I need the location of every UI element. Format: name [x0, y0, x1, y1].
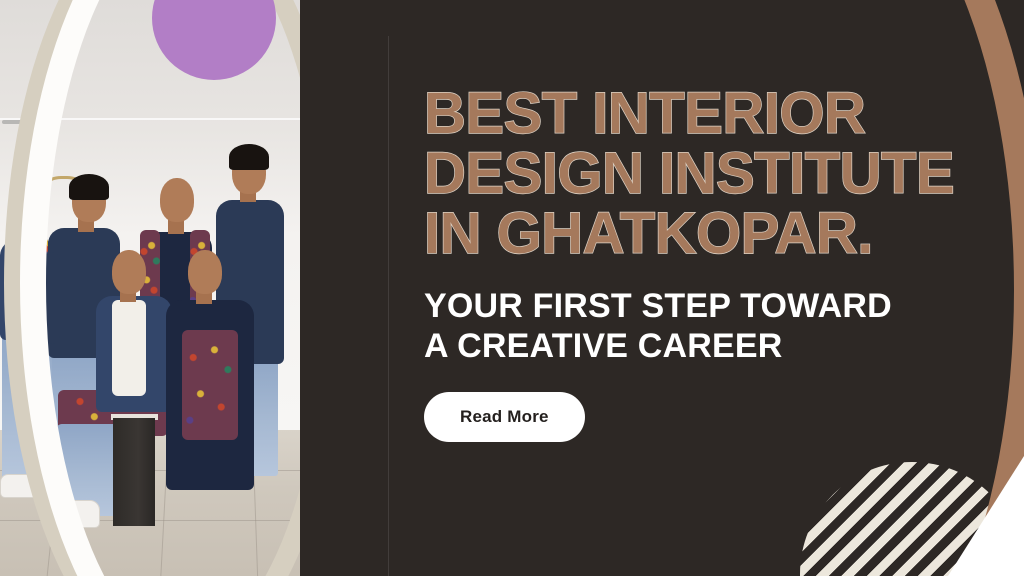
subheadline-line-1: YOUR FIRST STEP TOWARD	[424, 286, 994, 326]
subheadline: YOUR FIRST STEP TOWARD A CREATIVE CAREER	[424, 264, 994, 366]
student-group-photo	[0, 0, 300, 576]
vertical-divider	[388, 36, 389, 576]
read-more-button[interactable]: Read More	[424, 392, 585, 442]
subheadline-line-2: A CREATIVE CAREER	[424, 326, 994, 366]
banner-content: BEST INTERIOR DESIGN INSTITUTE IN GHATKO…	[424, 84, 994, 442]
headline: BEST INTERIOR DESIGN INSTITUTE IN GHATKO…	[424, 84, 994, 264]
backdrop-seam	[0, 118, 300, 120]
display-pedestal	[113, 418, 155, 526]
backdrop-rail	[2, 120, 38, 124]
promo-banner: BEST INTERIOR DESIGN INSTITUTE IN GHATKO…	[0, 0, 1024, 576]
cta-row: Read More	[424, 366, 994, 442]
